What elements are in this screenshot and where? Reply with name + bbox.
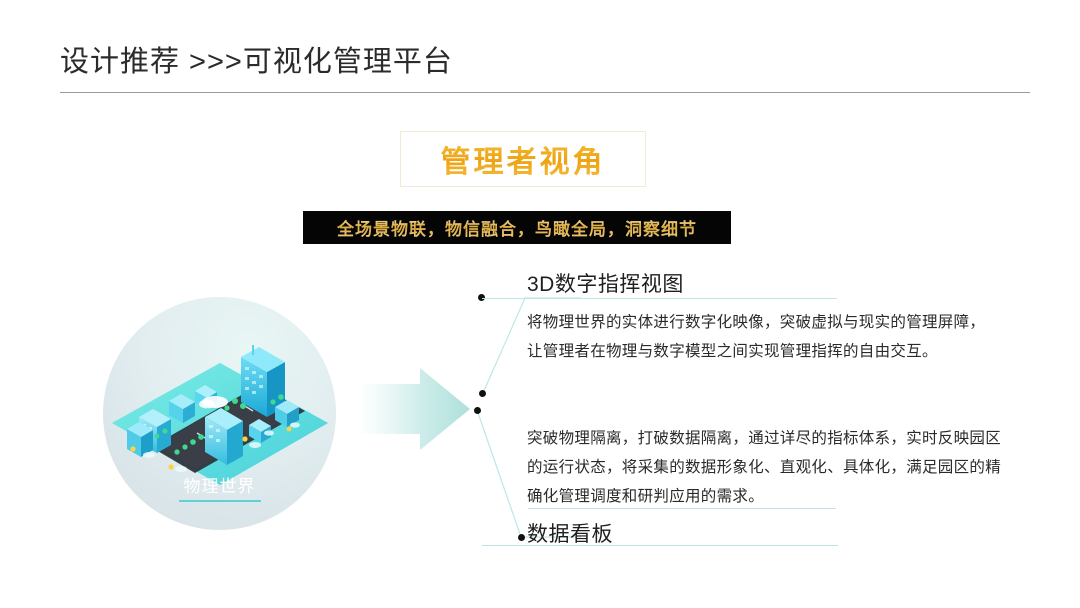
tagline-banner: 全场景物联，物信融合，鸟瞰全局，洞察细节 (303, 211, 731, 244)
physical-world-circle: 物理世界 (103, 297, 336, 530)
block-underline-3d-command-view (482, 298, 837, 299)
header-divider (60, 92, 1030, 93)
block-overline-data-dashboard (528, 508, 836, 509)
physical-world-label: 物理世界 (103, 472, 336, 497)
page-title: 设计推荐 >>>可视化管理平台 (60, 38, 453, 80)
manager-view-heading-box: 管理者视角 (400, 131, 646, 187)
block-title-3d-command-view: 3D数字指挥视图 (527, 268, 684, 298)
connector-dot-mid-upper (479, 390, 486, 397)
block-title-data-dashboard: 数据看板 (527, 518, 613, 548)
physical-world-label-underline (179, 500, 261, 502)
connector-dot-bottom (518, 534, 525, 541)
manager-view-heading-label: 管理者视角 (441, 137, 606, 181)
block-body-data-dashboard: 突破物理隔离，打破数据隔离，通过详尽的指标体系，实时反映园区的运行状态，将采集的… (527, 424, 1001, 511)
connector-dot-mid-lower (474, 407, 481, 414)
block-underline-data-dashboard (482, 545, 838, 546)
block-body-3d-command-view: 将物理世界的实体进行数字化映像，突破虚拟与现实的管理屏障，让管理者在物理与数字模… (527, 308, 997, 366)
tagline-banner-label: 全场景物联，物信融合，鸟瞰全局，洞察细节 (337, 215, 697, 240)
